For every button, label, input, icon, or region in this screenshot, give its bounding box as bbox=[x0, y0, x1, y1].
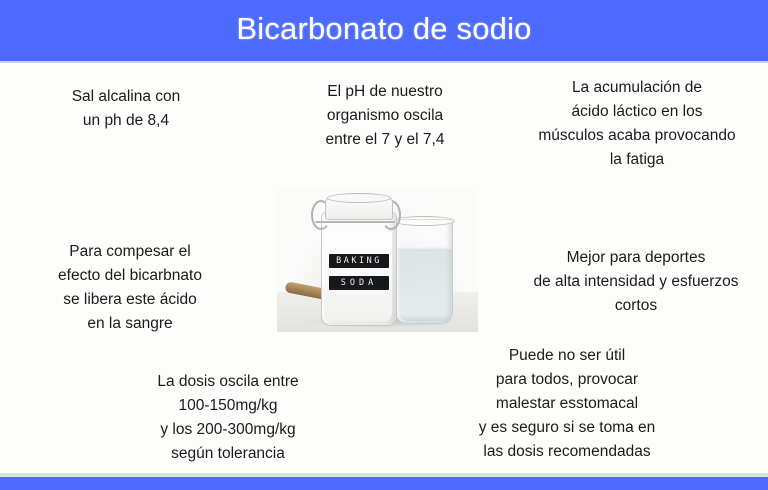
fact-line: la fatiga bbox=[508, 148, 766, 172]
fact-line: para todos, provocar bbox=[430, 368, 704, 392]
fact-line: Sal alcalina con bbox=[8, 85, 244, 109]
jar-bail-bar bbox=[315, 221, 395, 223]
fact-advertencia: Puede no ser útil para todos, provocar m… bbox=[430, 344, 704, 464]
fact-acido-lactico: La acumulación de ácido láctico en los m… bbox=[508, 76, 766, 172]
fact-line: según tolerancia bbox=[78, 442, 378, 466]
poster-canvas: Bicarbonato de sodio Sal alcalina con un… bbox=[0, 0, 768, 490]
fact-compensar-efecto: Para compesar el efecto del bicarbnato s… bbox=[4, 240, 256, 336]
fact-line: La acumulación de bbox=[508, 76, 766, 100]
fact-line: malestar esstomacal bbox=[430, 392, 704, 416]
fact-line: Mejor para deportes bbox=[506, 246, 766, 270]
fact-line: en la sangre bbox=[4, 312, 256, 336]
fact-line: La dosis oscila entre bbox=[78, 370, 378, 394]
fact-sal-alcalina: Sal alcalina con un ph de 8,4 bbox=[8, 85, 244, 133]
fact-line: El pH de nuestro bbox=[268, 80, 502, 104]
page-title: Bicarbonato de sodio bbox=[0, 0, 768, 61]
header-bar-edge bbox=[0, 61, 768, 63]
fact-line: las dosis recomendadas bbox=[430, 440, 704, 464]
fact-line: se libera este ácido bbox=[4, 288, 256, 312]
fact-line: de alta intensidad y esfuerzos bbox=[506, 270, 766, 294]
water-glass-rim bbox=[393, 216, 455, 226]
baking-soda-photo: BAKING SODA bbox=[277, 188, 478, 332]
fact-line: un ph de 8,4 bbox=[8, 109, 244, 133]
fact-ph-organismo: El pH de nuestro organismo oscila entre … bbox=[268, 80, 502, 152]
fact-line: y los 200-300mg/kg bbox=[78, 418, 378, 442]
fact-line: entre el 7 y el 7,4 bbox=[268, 128, 502, 152]
footer-bar bbox=[0, 477, 768, 490]
water-glass bbox=[395, 219, 453, 324]
fact-line: organismo oscila bbox=[268, 104, 502, 128]
fact-line: Puede no ser útil bbox=[430, 344, 704, 368]
jar-lid-top bbox=[327, 193, 391, 203]
jar-label-soda: SODA bbox=[329, 276, 389, 290]
jar-label-baking: BAKING bbox=[329, 254, 389, 268]
fact-line: 100-150mg/kg bbox=[78, 394, 378, 418]
fact-line: Para compesar el bbox=[4, 240, 256, 264]
fact-line: ácido láctico en los bbox=[508, 100, 766, 124]
fact-deportes-intensidad: Mejor para deportes de alta intensidad y… bbox=[506, 246, 766, 318]
fact-line: efecto del bicarbnato bbox=[4, 264, 256, 288]
fact-line: y es seguro si se toma en bbox=[430, 416, 704, 440]
fact-line: cortos bbox=[506, 294, 766, 318]
fact-line: músculos acaba provocando bbox=[508, 124, 766, 148]
water-surface-line bbox=[397, 246, 449, 251]
fact-dosis: La dosis oscila entre 100-150mg/kg y los… bbox=[78, 370, 378, 466]
